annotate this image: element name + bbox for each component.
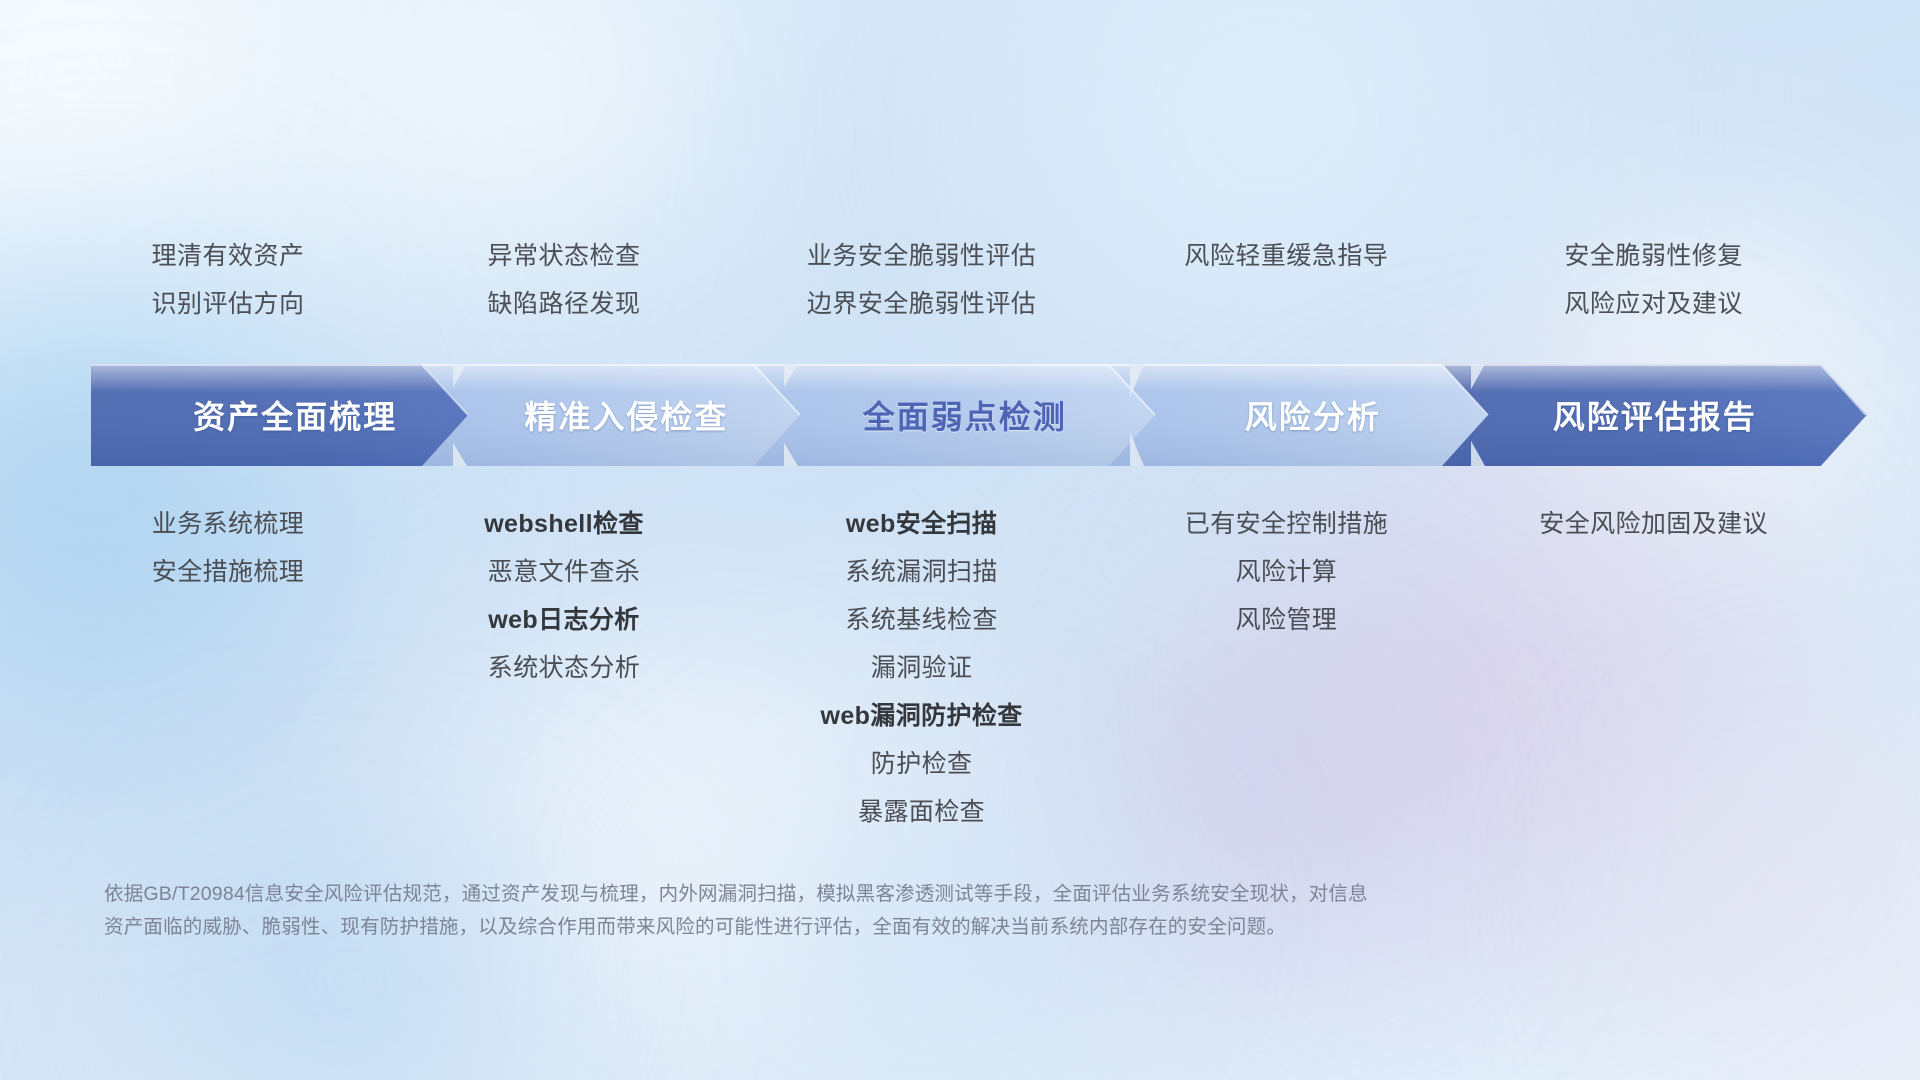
- detail-list-item: 已有安全控制措施: [1185, 500, 1388, 548]
- detail-list-item: web日志分析: [484, 596, 644, 644]
- top-label-item: 风险轻重缓急指导: [1184, 232, 1388, 280]
- detail-list-item: 风险管理: [1185, 596, 1388, 644]
- process-step-5[interactable]: 风险评估报告: [1442, 364, 1867, 466]
- step-separator-arrow-icon: [1130, 364, 1155, 466]
- process-step-title: 风险分析: [1245, 392, 1381, 438]
- top-label-group-3: 业务安全脆弱性评估边界安全脆弱性评估: [807, 232, 1037, 328]
- top-label-item: 安全脆弱性修复: [1564, 232, 1743, 280]
- top-label-item: 缺陷路径发现: [487, 280, 640, 328]
- detail-list-item: 漏洞验证: [820, 644, 1022, 692]
- footer-description: 依据GB/T20984信息安全风险评估规范，通过资产发现与梳理，内外网漏洞扫描，…: [104, 878, 1664, 944]
- top-label-item: 风险应对及建议: [1564, 280, 1743, 328]
- detail-list-item: 系统状态分析: [484, 644, 644, 692]
- detail-list-2: webshell检查恶意文件查杀web日志分析系统状态分析: [484, 500, 644, 692]
- detail-list-item: 暴露面检查: [820, 788, 1022, 836]
- detail-list-item: 风险计算: [1185, 548, 1388, 596]
- step-separator-arrow-icon: [1471, 364, 1489, 466]
- top-label-item: 理清有效资产: [151, 232, 304, 280]
- process-step-title: 风险评估报告: [1553, 392, 1757, 438]
- top-label-item: 业务安全脆弱性评估: [807, 232, 1037, 280]
- detail-list-4: 已有安全控制措施风险计算风险管理: [1185, 500, 1388, 644]
- detail-list-item: 防护检查: [820, 740, 1022, 788]
- top-label-group-5: 安全脆弱性修复风险应对及建议: [1564, 232, 1743, 328]
- detail-list-3: web安全扫描系统漏洞扫描系统基线检查漏洞验证web漏洞防护检查防护检查暴露面检…: [820, 500, 1022, 836]
- top-label-group-4: 风险轻重缓急指导: [1184, 232, 1388, 280]
- process-step-band: 资产全面梳理 精准入侵检查: [0, 364, 1920, 466]
- top-label-item: 异常状态检查: [487, 232, 640, 280]
- top-label-group-1: 理清有效资产识别评估方向: [151, 232, 304, 328]
- detail-list-item: web安全扫描: [820, 500, 1022, 548]
- process-step-title: 资产全面梳理: [193, 392, 397, 438]
- detail-list-item: 恶意文件查杀: [484, 548, 644, 596]
- step-separator-arrow-icon: [453, 364, 468, 466]
- process-step-title: 精准入侵检查: [524, 392, 728, 438]
- footer-line-2: 资产面临的威胁、脆弱性、现有防护措施，以及综合作用而带来风险的可能性进行评估，全…: [104, 911, 1664, 944]
- top-label-row: 理清有效资产识别评估方向异常状态检查缺陷路径发现业务安全脆弱性评估边界安全脆弱性…: [0, 232, 1920, 332]
- top-label-item: 边界安全脆弱性评估: [807, 280, 1037, 328]
- detail-list-5: 安全风险加固及建议: [1539, 500, 1768, 548]
- process-step-title: 全面弱点检测: [863, 392, 1067, 438]
- footer-line-1: 依据GB/T20984信息安全风险评估规范，通过资产发现与梳理，内外网漏洞扫描，…: [104, 878, 1664, 911]
- detail-list-item: 安全风险加固及建议: [1539, 500, 1768, 548]
- detail-list-item: 业务系统梳理: [152, 500, 304, 548]
- step-separator-arrow-icon: [784, 364, 799, 466]
- detail-list-item: 安全措施梳理: [152, 548, 304, 596]
- top-label-item: 识别评估方向: [151, 280, 304, 328]
- detail-list-item: web漏洞防护检查: [820, 692, 1022, 740]
- detail-list-item: 系统漏洞扫描: [820, 548, 1022, 596]
- process-diagram: 理清有效资产识别评估方向异常状态检查缺陷路径发现业务安全脆弱性评估边界安全脆弱性…: [0, 0, 1920, 1080]
- detail-list-item: 系统基线检查: [820, 596, 1022, 644]
- top-label-group-2: 异常状态检查缺陷路径发现: [487, 232, 640, 328]
- detail-list-1: 业务系统梳理安全措施梳理: [152, 500, 304, 596]
- detail-list-item: webshell检查: [484, 500, 644, 548]
